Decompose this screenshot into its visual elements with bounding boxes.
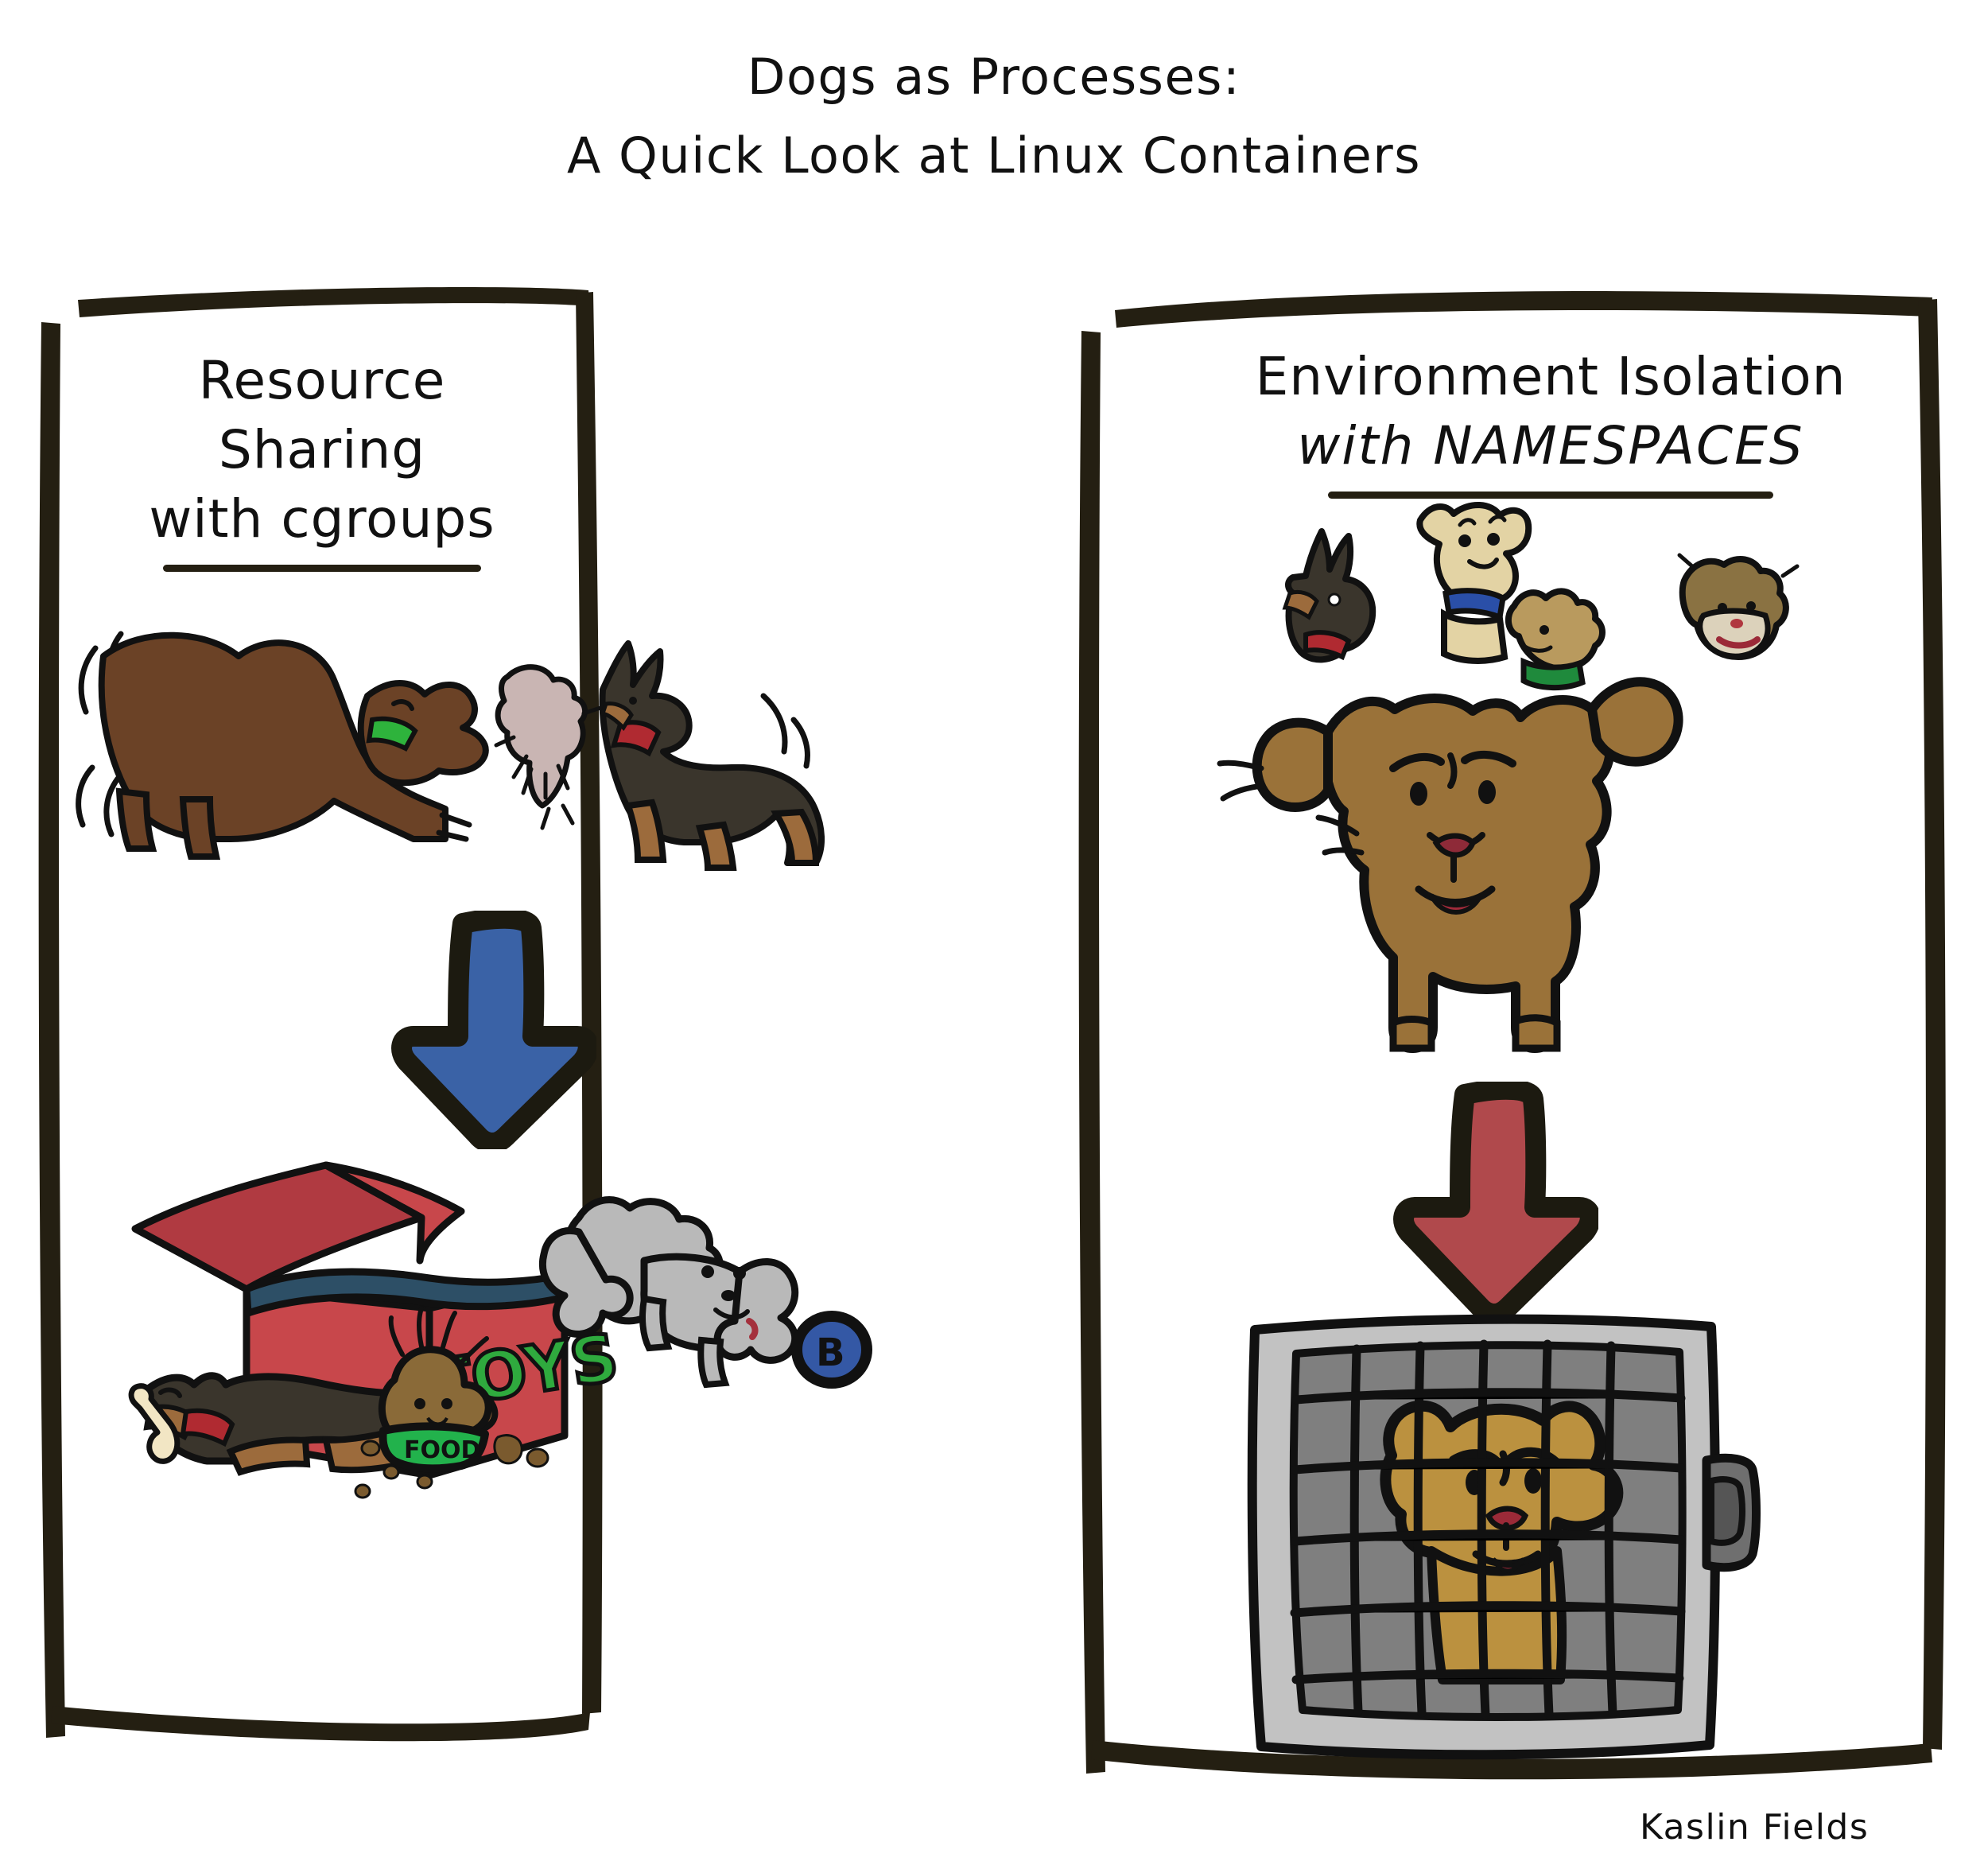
down-arrow-cgroups: [390, 911, 596, 1149]
heading-line-2: with NAMESPACES: [1233, 411, 1869, 480]
heading-line-2: with cgroups: [95, 484, 549, 554]
title-line-2: A Quick Look at Linux Containers: [0, 126, 1988, 185]
artist-credit: Kaslin Fields: [1640, 1807, 1869, 1848]
angry-brown-dog: [1220, 682, 1679, 1048]
dog-in-crate: [1241, 1312, 1765, 1774]
blue-ball: B: [797, 1316, 867, 1383]
angry-dog-with-floating-heads: [1217, 493, 1853, 1066]
small-tan-dog-head: [1508, 591, 1602, 687]
panel-namespaces: Environment Isolation with NAMESPACES: [1074, 286, 1956, 1789]
heading-underline: [163, 565, 481, 572]
panel-heading-cgroups: Resource Sharing with cgroups: [95, 346, 549, 572]
comic-title: Dogs as Processes: A Quick Look at Linux…: [0, 48, 1988, 185]
title-line-1: Dogs as Processes:: [0, 48, 1988, 106]
blue-ball-label: B: [816, 1331, 845, 1375]
down-arrow-namespaces: [1392, 1082, 1598, 1320]
dogs-tug-of-war: [72, 600, 867, 879]
panel-cgroups: Resource Sharing with cgroups: [32, 282, 954, 1758]
crate-latch: [1706, 1458, 1757, 1567]
arrow-shape: [402, 919, 588, 1143]
comic-canvas: Dogs as Processes: A Quick Look at Linux…: [0, 0, 1988, 1869]
arrow-shape: [1404, 1090, 1590, 1314]
cream-labrador-head: [1419, 505, 1528, 661]
heading-line-1: Environment Isolation: [1233, 342, 1869, 411]
shared-resources-scene: TOYS: [87, 1141, 899, 1634]
panel-heading-namespaces: Environment Isolation with NAMESPACES: [1233, 342, 1869, 499]
brindle-dog-head: [1679, 555, 1797, 657]
food-bowl-label: FOOD: [404, 1436, 480, 1464]
heading-line-1: Resource Sharing: [95, 346, 549, 484]
doberman-head: [1285, 531, 1373, 659]
